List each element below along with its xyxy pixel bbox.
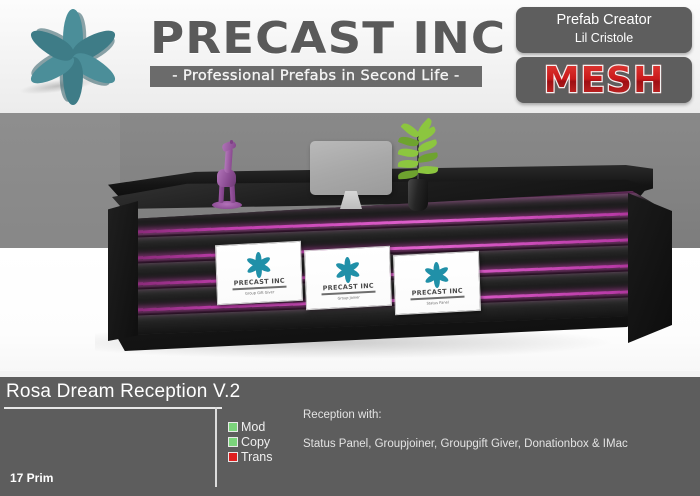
title-underline	[4, 407, 222, 409]
product-render-scene: PRECAST INCGroup Gift GiverPRECAST INCGr…	[0, 113, 700, 371]
flower-icon	[244, 251, 273, 278]
desk-logo-panel: PRECAST INCStatus Panel	[393, 251, 481, 315]
permission-row: Mod	[228, 420, 273, 434]
description-body: Status Panel, Groupjoiner, Groupgift Giv…	[303, 437, 683, 452]
flower-icon	[333, 256, 362, 283]
plant-leaf	[418, 165, 439, 175]
page-title: Rosa Dream Reception V.2	[6, 381, 240, 403]
giraffe-base	[212, 201, 242, 209]
panel-caption: Group Joiner	[337, 295, 359, 300]
permission-label: Copy	[241, 435, 270, 449]
status-badge	[228, 452, 238, 462]
info-divider	[215, 407, 217, 487]
plant-vase	[408, 179, 428, 211]
potted-plant-decor	[382, 115, 454, 211]
giraffe-horn	[230, 140, 233, 144]
panel-content: PRECAST INCGroup Joiner	[305, 247, 391, 309]
desk-left-end	[108, 201, 138, 341]
plant-leaf	[398, 159, 419, 169]
status-badge	[228, 422, 238, 432]
prim-count: 17 Prim	[10, 471, 53, 485]
permissions-list: ModCopyTrans	[228, 420, 273, 465]
description-heading: Reception with:	[303, 409, 683, 421]
mesh-badge-text: MESH	[516, 57, 692, 103]
prefab-creator-badge: Prefab Creator Lil Cristole	[516, 7, 692, 53]
imac-screen-back	[310, 141, 392, 195]
permission-label: Mod	[241, 420, 265, 434]
permission-label: Trans	[241, 450, 273, 464]
status-badge	[228, 437, 238, 447]
brand-name-text: PRECAST INC	[150, 14, 519, 64]
plant-leaf	[417, 152, 438, 163]
desk-logo-panel: PRECAST INCGroup Joiner	[304, 246, 392, 310]
giraffe-statue-decor	[208, 139, 248, 211]
flower-icon	[22, 8, 124, 104]
brand-wordmark: PRECAST INC - Professional Prefabs in Se…	[150, 14, 498, 100]
panel-caption: Status Panel	[426, 300, 448, 305]
flower-icon	[422, 261, 451, 288]
panel-content: PRECAST INCGroup Gift Giver	[216, 242, 302, 304]
brand-logo	[14, 6, 132, 106]
plant-leaf	[398, 147, 419, 159]
creator-name: Lil Cristole	[516, 30, 692, 47]
permission-row: Copy	[228, 435, 273, 449]
product-advertisement: PRECAST INC - Professional Prefabs in Se…	[0, 0, 700, 496]
mesh-badge: MESH MESH	[516, 57, 692, 103]
product-info-panel: Rosa Dream Reception V.2 ModCopyTrans Re…	[0, 371, 700, 496]
panel-caption: Group Gift Giver	[245, 290, 274, 296]
header-banner: PRECAST INC - Professional Prefabs in Se…	[0, 0, 700, 114]
plant-leaf	[398, 170, 419, 179]
desk-logo-panel: PRECAST INCGroup Gift Giver	[215, 241, 303, 305]
permission-row: Trans	[228, 450, 273, 464]
brand-tagline-text: - Professional Prefabs in Second Life -	[150, 66, 482, 87]
panel-content: PRECAST INCStatus Panel	[394, 252, 480, 314]
creator-label: Prefab Creator	[516, 11, 692, 30]
desk-right-end	[628, 193, 672, 343]
scene-wall-left	[0, 113, 120, 258]
imac-decor	[310, 141, 392, 209]
description-block: Reception with: Status Panel, Groupjoine…	[303, 409, 683, 452]
